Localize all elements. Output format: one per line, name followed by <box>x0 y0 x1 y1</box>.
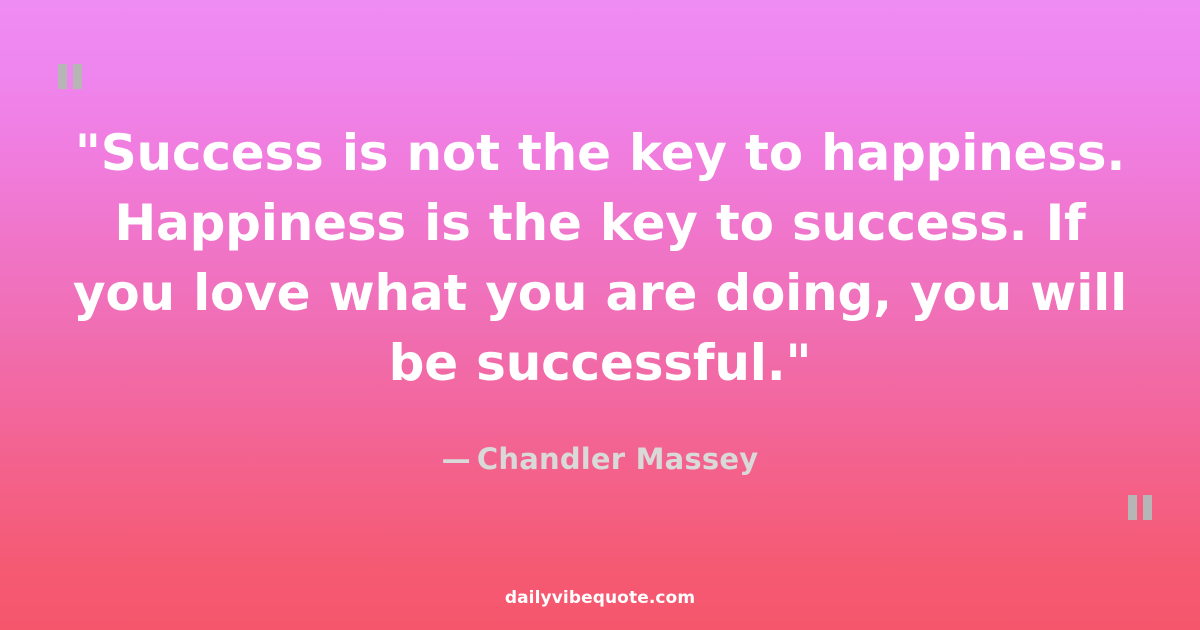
quote-open-icon <box>58 64 82 89</box>
quote-close-bar-right <box>1143 495 1152 520</box>
footer: dailyvibequote.com <box>0 588 1200 608</box>
quote-open-bar-left <box>58 64 67 89</box>
quote-attribution: —Chandler Massey <box>70 442 1130 476</box>
quote-text: "Success is not the key to happiness. Ha… <box>70 118 1130 398</box>
quote-card: "Success is not the key to happiness. Ha… <box>0 0 1200 630</box>
quote-open-bar-right <box>73 64 82 89</box>
quote-body: "Success is not the key to happiness. Ha… <box>70 0 1130 476</box>
quote-close-icon <box>1128 495 1152 520</box>
attribution-author: Chandler Massey <box>477 442 758 476</box>
attribution-dash: — <box>442 442 471 476</box>
quote-close-bar-left <box>1128 495 1137 520</box>
site-name: dailyvibequote.com <box>505 588 695 608</box>
